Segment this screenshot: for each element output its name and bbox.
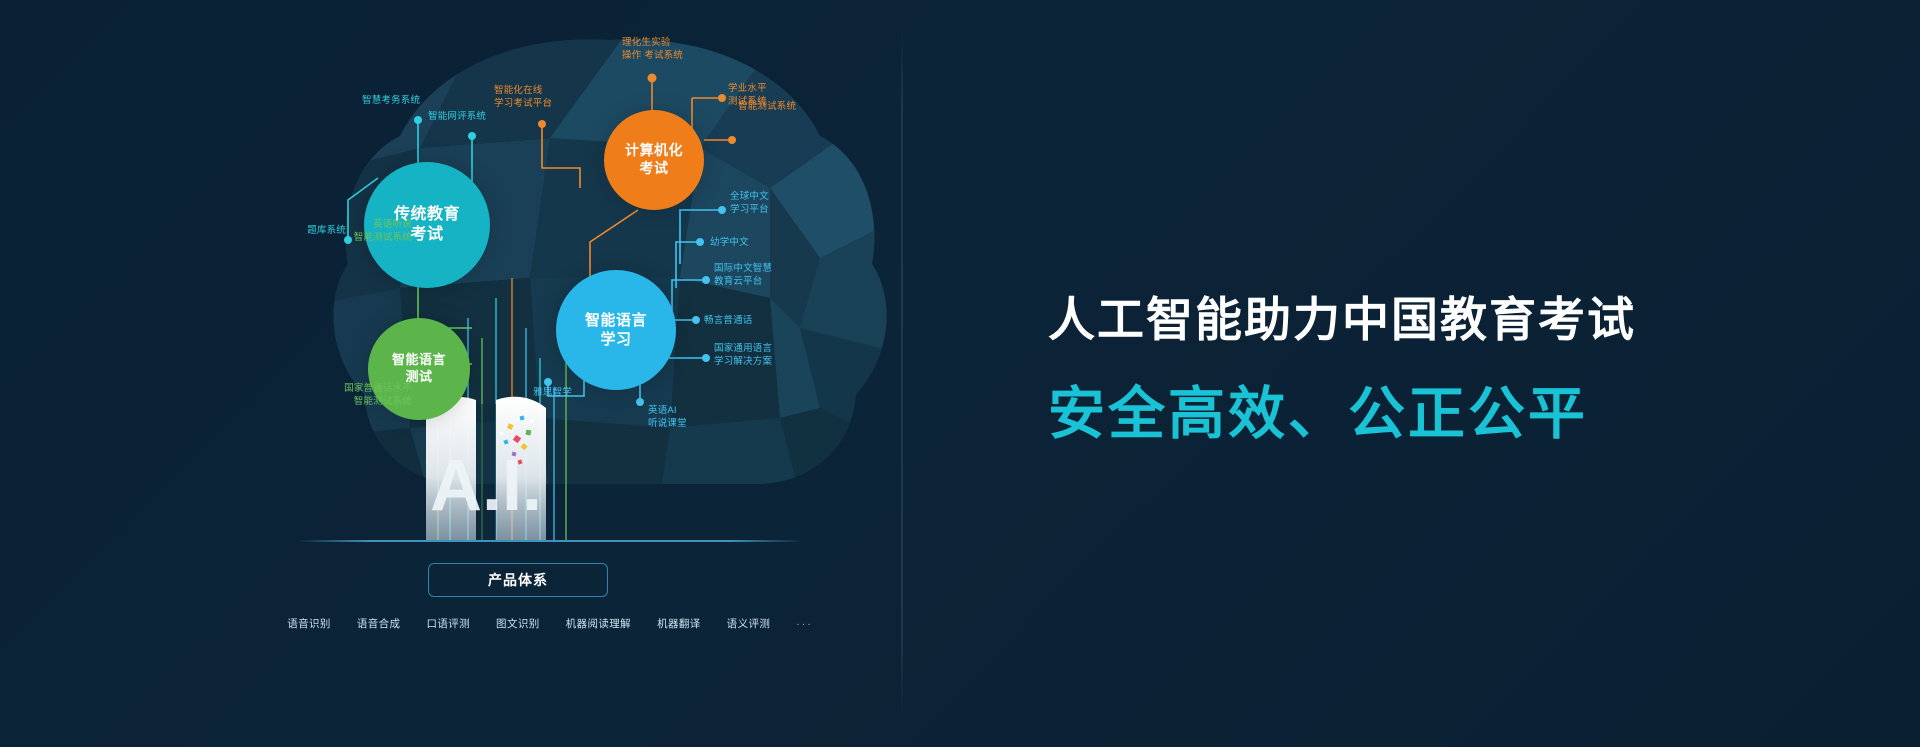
leaf-smart-online-marking-system[interactable]: 智能网评系统 bbox=[428, 110, 524, 123]
baseline-rule bbox=[300, 540, 800, 542]
tag-speech-recognition[interactable]: 语音识别 bbox=[287, 616, 331, 631]
node-label: 智能语言 学习 bbox=[585, 311, 647, 349]
tag-machine-translation[interactable]: 机器翻译 bbox=[657, 616, 701, 631]
headline-block: 人工智能助力中国教育考试 安全高效、公正公平 bbox=[1048, 292, 1788, 449]
leaf-intl-chinese-smart-edu-cloud[interactable]: 国际中文智慧 教育云平台 bbox=[714, 262, 812, 288]
tag-oral-evaluation[interactable]: 口语评测 bbox=[426, 616, 470, 631]
capability-tag-row: 语音识别 语音合成 口语评测 图文识别 机器阅读理解 机器翻译 语义评测 ··· bbox=[300, 616, 800, 631]
product-system-button[interactable]: 产品体系 bbox=[428, 563, 608, 597]
leaf-smart-online-learning-exam-platform[interactable]: 智能化在线 学习考试平台 bbox=[494, 84, 574, 110]
node-computerized-exam[interactable]: 计算机化 考试 bbox=[604, 110, 704, 210]
tag-machine-reading[interactable]: 机器阅读理解 bbox=[566, 616, 631, 631]
ai-wordmark: A.I. bbox=[430, 446, 542, 526]
node-label: 计算机化 考试 bbox=[625, 142, 683, 178]
leaf-english-listening-speaking-test[interactable]: 英语听说 智能测试系统 bbox=[306, 218, 412, 244]
product-system-label: 产品体系 bbox=[488, 570, 548, 590]
leaf-smart-exam-affairs-system[interactable]: 智慧考务系统 bbox=[362, 94, 458, 107]
leaf-national-putonghua-level-test[interactable]: 国家普通话水平 智能测试系统 bbox=[294, 382, 412, 408]
leaf-global-chinese-learning-platform[interactable]: 全球中文 学习平台 bbox=[730, 190, 820, 216]
leaf-national-language-learning-solution[interactable]: 国家通用语言 学习解决方案 bbox=[714, 342, 812, 368]
leaf-changyan-putonghua[interactable]: 畅言普通话 bbox=[704, 314, 788, 327]
leaf-english-ai-listening-speaking-class[interactable]: 英语AI 听说课堂 bbox=[648, 404, 714, 430]
leaf-youxue-chinese[interactable]: 幼学中文 bbox=[710, 236, 790, 249]
leaf-physics-chem-bio-lab-exam-system[interactable]: 理化生实验 操作 考试系统 bbox=[622, 36, 708, 62]
headline-secondary: 安全高效、公正公平 bbox=[1048, 380, 1788, 448]
banner-stage: A.I. 传统教育 考试 计算机化 考试 智能语言 学习 bbox=[0, 0, 1920, 747]
tag-semantic-evaluation[interactable]: 语义评测 bbox=[727, 616, 771, 631]
node-label: 智能语言 测试 bbox=[392, 352, 446, 385]
tag-speech-synthesis[interactable]: 语音合成 bbox=[357, 616, 401, 631]
node-smart-language-learning[interactable]: 智能语言 学习 bbox=[556, 270, 676, 390]
tag-image-text-recognition[interactable]: 图文识别 bbox=[496, 616, 540, 631]
ai-education-tree-diagram: A.I. 传统教育 考试 计算机化 考试 智能语言 学习 bbox=[300, 28, 920, 668]
headline-primary: 人工智能助力中国教育考试 bbox=[1048, 292, 1788, 348]
tag-more[interactable]: ··· bbox=[796, 618, 813, 630]
leaf-ielts-smart-study[interactable]: 雅思智学 bbox=[496, 386, 572, 399]
leaf-intelligent-test-system[interactable]: 智能测试系统 bbox=[738, 100, 824, 113]
